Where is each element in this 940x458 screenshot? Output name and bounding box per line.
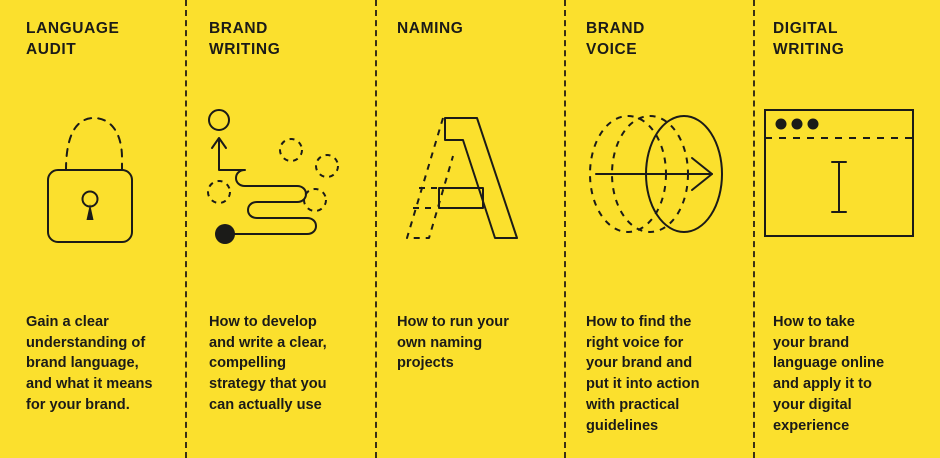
column-digital-writing[interactable]: DIGITAL WRITING How to take your brand l… (755, 0, 940, 458)
column-body: How to develop and write a clear, compel… (187, 312, 377, 416)
service-columns-board: LANGUAGE AUDIT Gain a clear understandin… (0, 0, 940, 458)
column-title: NAMING (397, 18, 552, 39)
column-body: How to run your own naming projects (377, 312, 566, 374)
column-naming[interactable]: NAMING How to run your own naming projec… (377, 0, 566, 458)
column-title: DIGITAL WRITING (773, 18, 926, 61)
column-body: How to take your brand language online a… (755, 312, 940, 436)
letter-a-icon (377, 96, 566, 256)
column-title: BRAND WRITING (209, 18, 363, 61)
column-body: Gain a clear understanding of brand lang… (0, 312, 187, 416)
column-body: How to find the right voice for your bra… (566, 312, 755, 436)
column-language-audit[interactable]: LANGUAGE AUDIT Gain a clear understandin… (0, 0, 187, 458)
padlock-icon (0, 96, 187, 256)
browser-window-cursor-icon (755, 96, 940, 256)
winding-path-arrow-icon (187, 96, 377, 256)
column-title: LANGUAGE AUDIT (26, 18, 173, 61)
column-title: BRAND VOICE (586, 18, 741, 61)
column-brand-writing[interactable]: BRAND WRITING How to develop and write a… (187, 0, 377, 458)
ellipses-arrow-icon (566, 96, 755, 256)
column-brand-voice[interactable]: BRAND VOICE How to find the right voice … (566, 0, 755, 458)
